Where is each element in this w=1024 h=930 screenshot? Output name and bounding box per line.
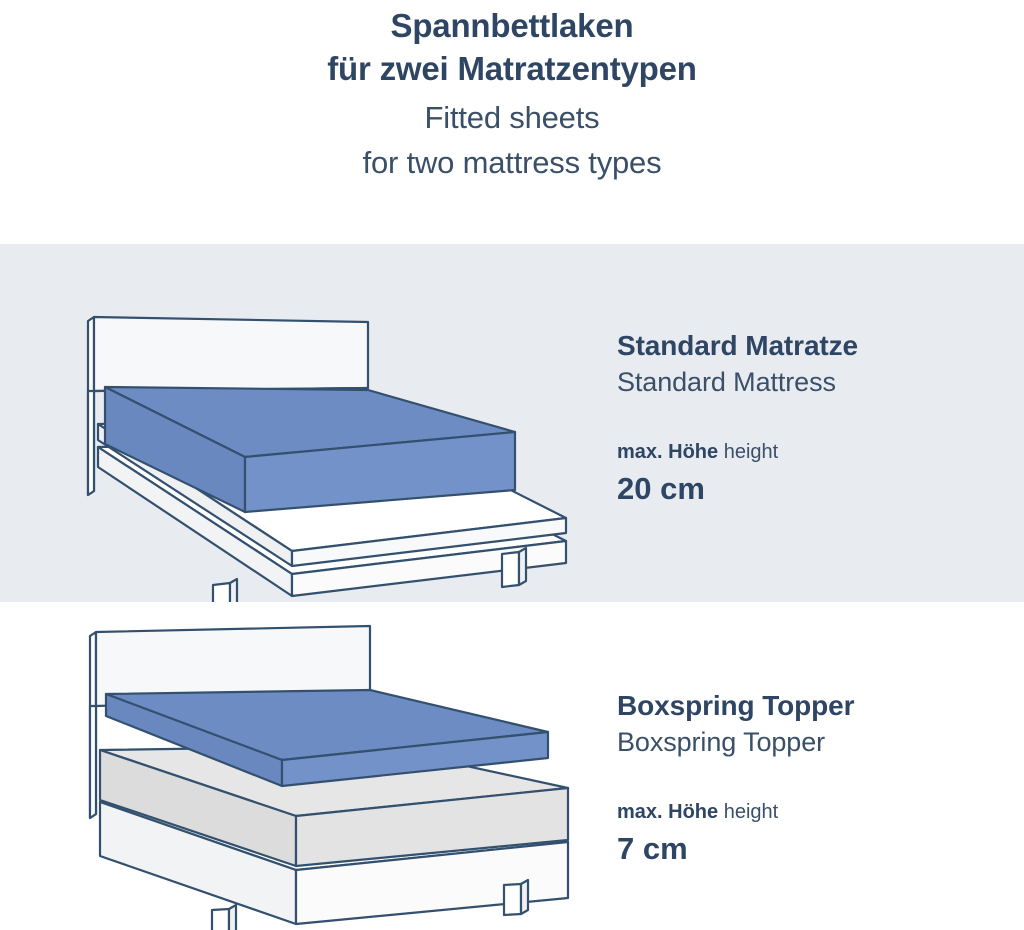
boxspring-topper-text-block: Boxspring Topper Boxspring Topper max. H… (617, 688, 854, 868)
height-label-de: max. Höhe (617, 441, 718, 463)
type-title-en: Boxspring Topper (617, 724, 854, 760)
title-de-line1: Spannbettlaken (0, 4, 1024, 47)
height-value: 7 cm (617, 830, 854, 868)
boxspring-topper-bed-illustration (0, 602, 600, 930)
height-label-de: max. Höhe (617, 801, 718, 823)
header: Spannbettlaken für zwei Matratzentypen F… (0, 0, 1024, 244)
title-en-line2: for two mattress types (0, 140, 1024, 185)
height-label-row: max. Höhe height (617, 439, 858, 465)
height-label-en: height (724, 801, 779, 823)
standard-mattress-bed-illustration (0, 244, 600, 602)
section-standard-mattress: Standard Matratze Standard Mattress max.… (0, 244, 1024, 602)
type-title-de: Boxspring Topper (617, 688, 854, 724)
infographic-root: Spannbettlaken für zwei Matratzentypen F… (0, 0, 1024, 930)
type-title-en: Standard Mattress (617, 364, 858, 400)
height-label-en: height (724, 441, 779, 463)
title-de-line2: für zwei Matratzentypen (0, 47, 1024, 90)
standard-mattress-text-block: Standard Matratze Standard Mattress max.… (617, 328, 858, 508)
title-en-line1: Fitted sheets (0, 95, 1024, 140)
height-label-row: max. Höhe height (617, 799, 854, 825)
section-boxspring-topper: Boxspring Topper Boxspring Topper max. H… (0, 602, 1024, 930)
height-value: 20 cm (617, 470, 858, 508)
type-title-de: Standard Matratze (617, 328, 858, 364)
subtitle-block: Fitted sheets for two mattress types (0, 95, 1024, 185)
